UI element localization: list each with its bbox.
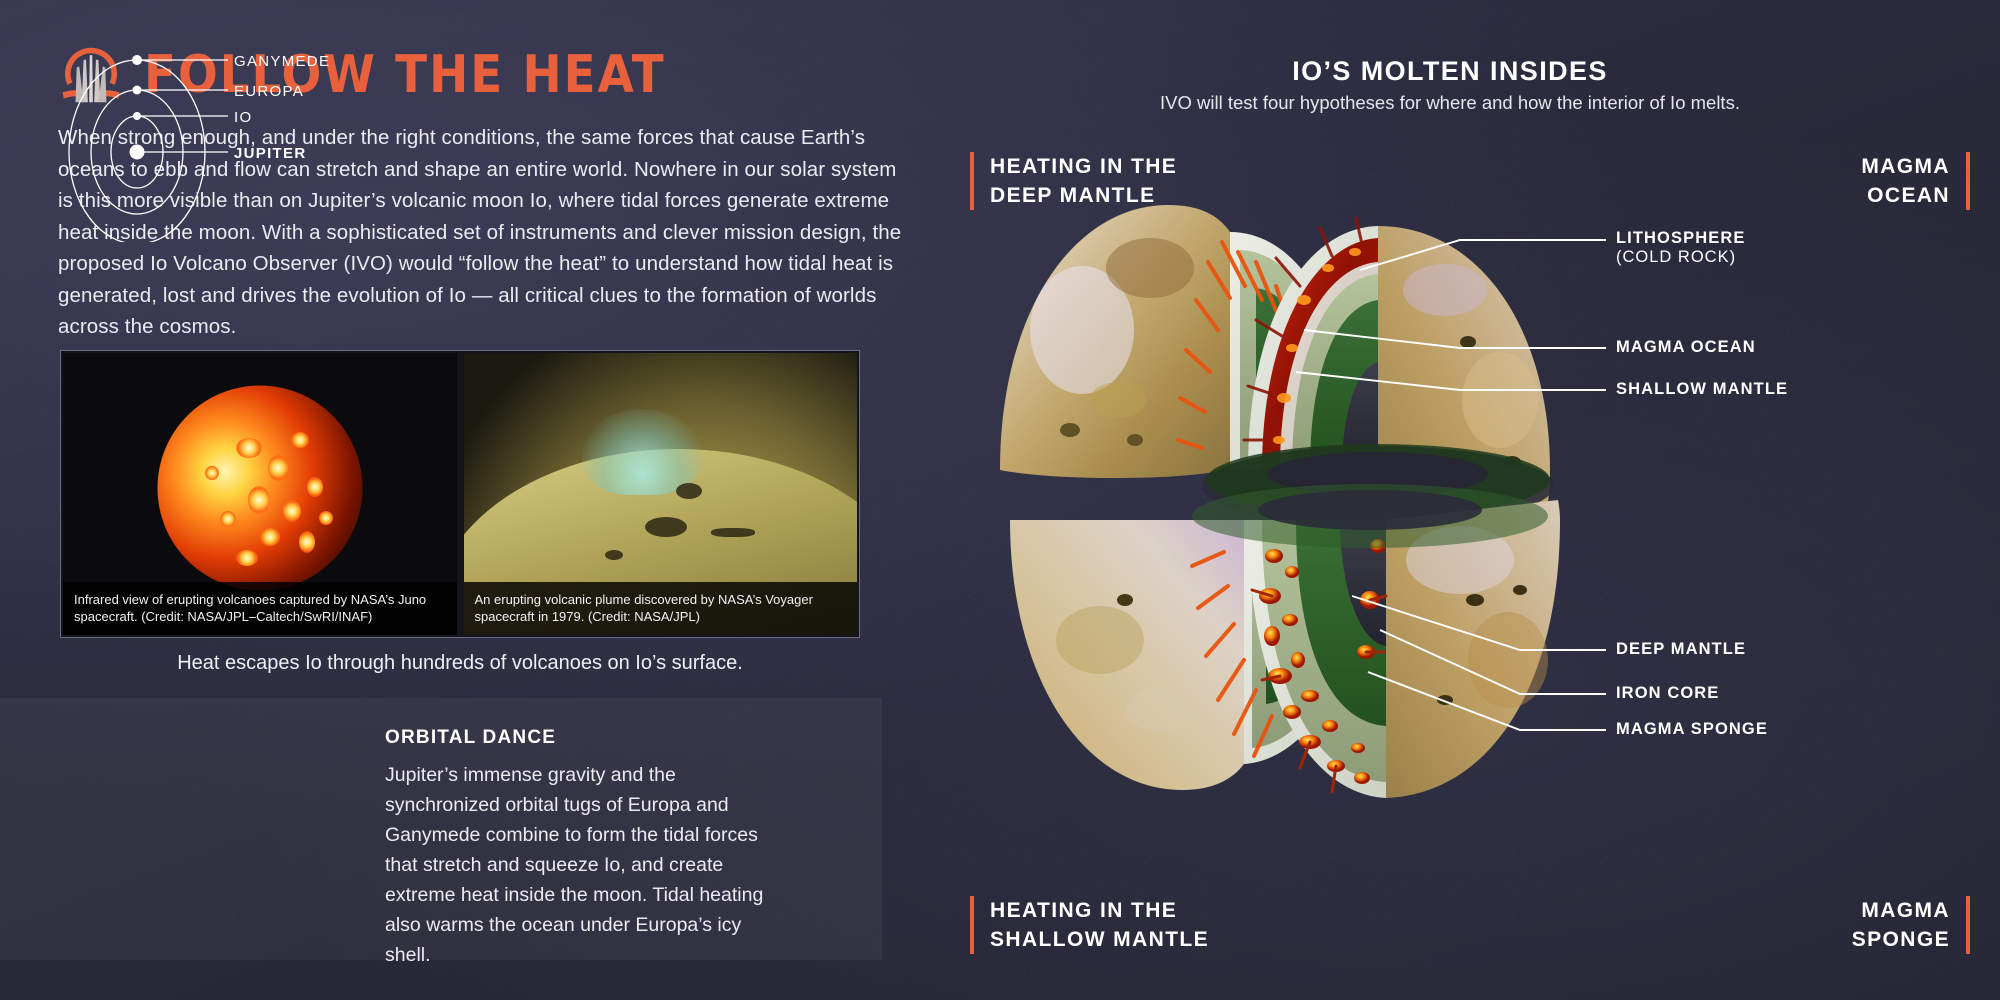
- hotspot: [248, 486, 270, 514]
- orbit-label-io: IO: [234, 109, 252, 126]
- surface-spot: [1466, 594, 1484, 606]
- juno-infrared-io: Infrared view of erupting volcanoes capt…: [63, 353, 457, 635]
- orbital-dance-body: Jupiter’s immense gravity and the synchr…: [385, 760, 767, 970]
- callout-iron-core: IRON CORE: [1616, 684, 1719, 703]
- hotspot: [260, 528, 280, 546]
- photo-strip: Infrared view of erupting volcanoes capt…: [60, 350, 860, 638]
- surface-feature: [676, 483, 702, 499]
- hotspot: [299, 531, 315, 553]
- surface-spot: [1513, 585, 1527, 595]
- surface-feature: [645, 517, 687, 537]
- hotspot: [205, 466, 219, 480]
- callout-magma-sponge: MAGMA SPONGE: [1616, 720, 1768, 739]
- callout-shallow-mantle: SHALLOW MANTLE: [1616, 380, 1788, 399]
- surface-spot: [1127, 434, 1143, 446]
- hotspot: [268, 455, 288, 481]
- right-column: IO’S MOLTEN INSIDES IVO will test four h…: [900, 0, 2000, 1000]
- photo-strip-caption: Heat escapes Io through hundreds of volc…: [60, 652, 860, 675]
- surface-spot: [1117, 594, 1133, 606]
- surface-patch: [1056, 606, 1144, 674]
- orbital-diagram: GANYMEDE EUROPA IO JUPITER: [52, 22, 352, 242]
- infographic-root: FOLLOW THE HEAT When strong enough, and …: [0, 0, 2000, 1000]
- cut-plane-core-bottom: [1258, 490, 1482, 530]
- orbital-dance-title: ORBITAL DANCE: [385, 727, 556, 749]
- voyager-volcanic-plume: An erupting volcanic plume discovered by…: [464, 353, 858, 635]
- callout-stubs: [1572, 240, 1606, 730]
- hotspot: [307, 477, 323, 497]
- io-cutaway-illustration: [900, 0, 2000, 1000]
- surface-patch: [1126, 688, 1194, 732]
- photo-caption: Infrared view of erupting volcanoes capt…: [63, 582, 457, 635]
- surface-patch: [1462, 352, 1538, 448]
- hotspot: [319, 511, 333, 525]
- left-column: FOLLOW THE HEAT When strong enough, and …: [0, 0, 900, 1000]
- callout-lithosphere-sublabel: (COLD ROCK): [1616, 248, 1745, 267]
- callout-lithosphere-label: LITHOSPHERE: [1616, 229, 1745, 247]
- surface-spot: [1460, 336, 1476, 348]
- callout-lithosphere: LITHOSPHERE (COLD ROCK): [1616, 229, 1745, 267]
- hotspot: [236, 438, 262, 458]
- callout-magma-ocean: MAGMA OCEAN: [1616, 338, 1756, 357]
- photo-caption: An erupting volcanic plume discovered by…: [464, 582, 858, 635]
- surface-spot: [1060, 423, 1080, 437]
- surface-feature: [711, 528, 755, 537]
- callout-deep-mantle: DEEP MANTLE: [1616, 640, 1746, 659]
- surface-patch: [1106, 238, 1194, 298]
- hotspot: [283, 500, 301, 522]
- orbit-label-europa: EUROPA: [234, 83, 304, 100]
- orbit-label-jupiter: JUPITER: [234, 145, 306, 162]
- surface-patch: [1403, 264, 1487, 316]
- surface-patch: [1090, 382, 1146, 418]
- orbit-label-ganymede: GANYMEDE: [234, 53, 330, 70]
